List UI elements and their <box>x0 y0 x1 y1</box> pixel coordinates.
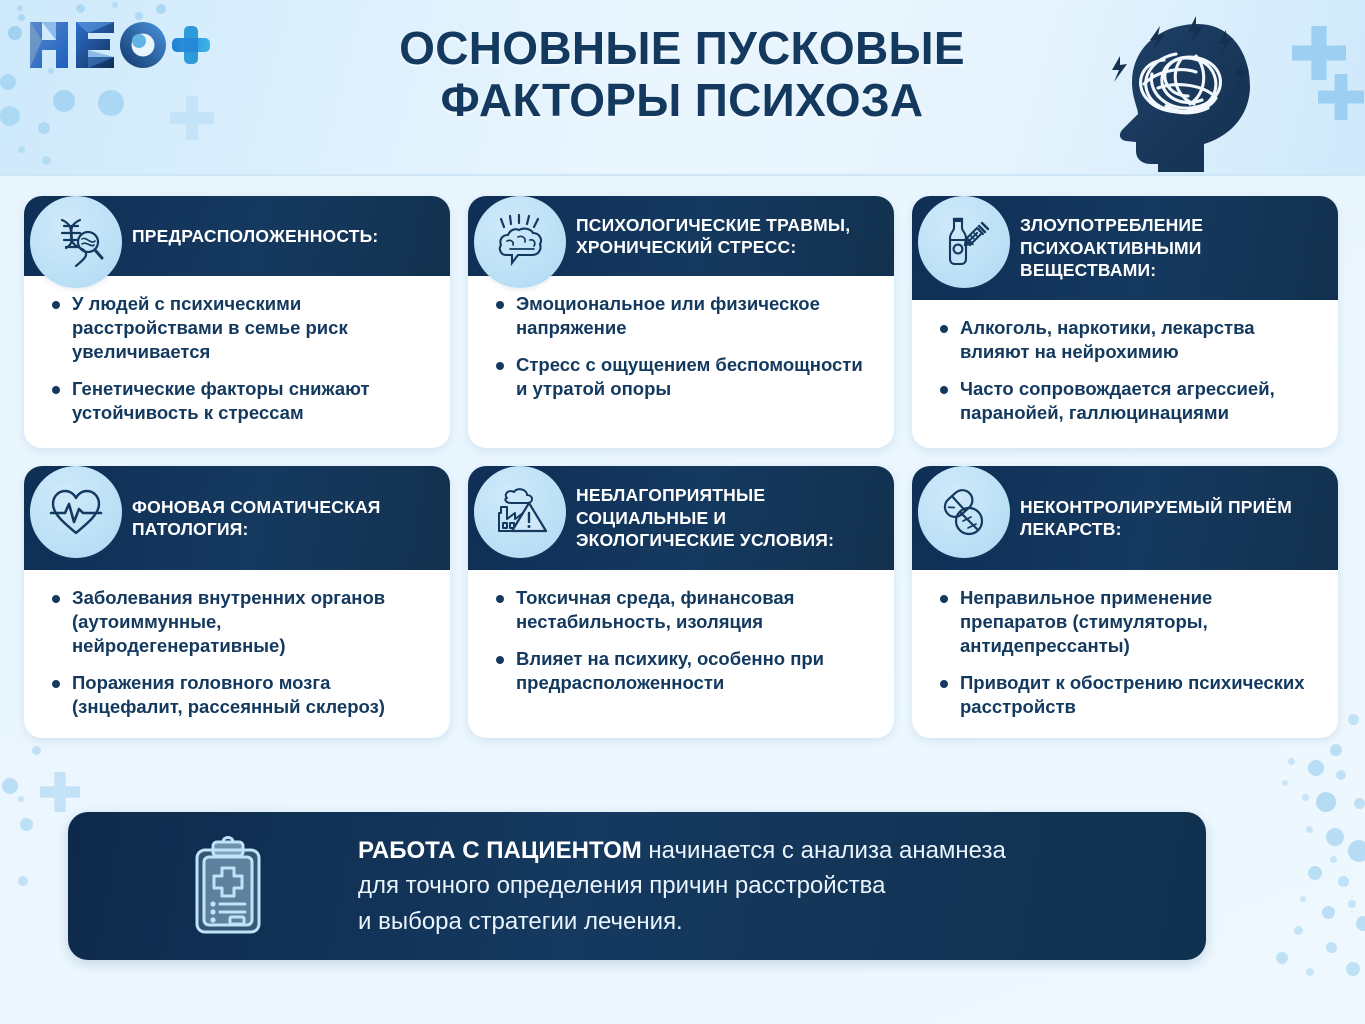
factor-card-predisposition: ПРЕДРАСПОЛОЖЕННОСТЬ: У людей с психическ… <box>24 196 450 448</box>
list-item: Приводит к обострению психических расстр… <box>934 671 1320 719</box>
card-body: Алкоголь, наркотики, лекарства влияют на… <box>912 300 1338 443</box>
card-header: ЗЛОУПОТРЕБЛЕНИЕ ПСИХОАКТИВНЫМИ ВЕЩЕСТВАМ… <box>912 196 1338 300</box>
deco-dot <box>8 26 22 40</box>
footer-banner-text: РАБОТА С ПАЦИЕНТОМ начинается с анализа … <box>358 833 1006 940</box>
deco-dot <box>98 90 124 116</box>
list-item: Токсичная среда, финансовая нестабильнос… <box>490 586 876 634</box>
deco-dot <box>112 2 118 8</box>
deco-dot <box>1326 942 1337 953</box>
factor-card-somatic-pathology: ФОНОВАЯ СОМАТИЧЕСКАЯ ПАТОЛОГИЯ: Заболева… <box>24 466 450 738</box>
factors-grid: ПРЕДРАСПОЛОЖЕННОСТЬ: У людей с психическ… <box>24 196 1342 738</box>
card-title: НЕБЛАГОПРИЯТНЫЕ СОЦИАЛЬНЫЕ И ЭКОЛОГИЧЕСК… <box>576 484 876 551</box>
bottle-syringe-icon <box>918 196 1010 288</box>
deco-dot <box>1288 758 1295 765</box>
deco-dot <box>1356 916 1365 931</box>
deco-dot <box>1346 962 1360 976</box>
deco-dot <box>42 156 51 165</box>
deco-dot <box>1308 760 1324 776</box>
card-title: ЗЛОУПОТРЕБЛЕНИЕ ПСИХОАКТИВНЫМИ ВЕЩЕСТВАМ… <box>1020 214 1320 281</box>
deco-dot <box>1338 876 1349 887</box>
stressed-brain-icon <box>474 196 566 288</box>
factor-card-trauma-stress: ПСИХОЛОГИЧЕСКИЕ ТРАВМЫ, ХРОНИЧЕСКИЙ СТРЕ… <box>468 196 894 448</box>
deco-dot <box>1330 856 1337 863</box>
deco-dot <box>18 14 25 21</box>
deco-plus <box>170 96 214 140</box>
deco-dot <box>1336 770 1346 780</box>
list-item: Генетические факторы снижают устойчивост… <box>46 377 432 425</box>
deco-dot <box>1354 798 1365 809</box>
deco-dot <box>1330 744 1342 756</box>
deco-dot <box>1348 840 1365 862</box>
deco-dot <box>1300 896 1306 902</box>
deco-plus <box>1292 26 1346 80</box>
deco-dot <box>53 90 75 112</box>
deco-dot <box>20 818 33 831</box>
card-header: ПРЕДРАСПОЛОЖЕННОСТЬ: <box>24 196 450 276</box>
deco-dot <box>1302 794 1309 801</box>
deco-dot <box>17 5 23 11</box>
factor-card-uncontrolled-medication: НЕКОНТРОЛИРУЕМЫЙ ПРИЁМ ЛЕКАРСТВ: Неправи… <box>912 466 1338 738</box>
bullet-list: Алкоголь, наркотики, лекарства влияют на… <box>934 316 1320 425</box>
bullet-list: Заболевания внутренних органов (аутоимму… <box>46 586 432 719</box>
list-item: Алкоголь, наркотики, лекарства влияют на… <box>934 316 1320 364</box>
card-title: ПРЕДРАСПОЛОЖЕННОСТЬ: <box>132 225 378 247</box>
card-body: Неправильное применение препаратов (стим… <box>912 570 1338 737</box>
deco-dot <box>1316 792 1336 812</box>
deco-dot <box>1282 780 1288 786</box>
header-band: ОСНОВНЫЕ ПУСКОВЫЕ ФАКТОРЫ ПСИХОЗА <box>0 0 1365 176</box>
deco-dot <box>38 122 50 134</box>
card-header: ФОНОВАЯ СОМАТИЧЕСКАЯ ПАТОЛОГИЯ: <box>24 466 450 570</box>
list-item: Часто сопровождается агрессией, паранойе… <box>934 377 1320 425</box>
card-title: ПСИХОЛОГИЧЕСКИЕ ТРАВМЫ, ХРОНИЧЕСКИЙ СТРЕ… <box>576 214 876 259</box>
card-body: У людей с психическими расстройствами в … <box>24 276 450 443</box>
factor-card-social-ecological: НЕБЛАГОПРИЯТНЫЕ СОЦИАЛЬНЫЕ И ЭКОЛОГИЧЕСК… <box>468 466 894 738</box>
list-item: Заболевания внутренних органов (аутоимму… <box>46 586 432 658</box>
page-title: ОСНОВНЫЕ ПУСКОВЫЕ ФАКТОРЫ ПСИХОЗА <box>332 22 1032 127</box>
card-title: НЕКОНТРОЛИРУЕМЫЙ ПРИЁМ ЛЕКАРСТВ: <box>1020 496 1320 541</box>
footer-line-3: и выбора стратегии лечения. <box>358 904 1006 940</box>
list-item: Влияет на психику, особенно при предрасп… <box>490 647 876 695</box>
deco-dot <box>1348 900 1356 908</box>
pills-icon <box>918 466 1010 558</box>
card-title: ФОНОВАЯ СОМАТИЧЕСКАЯ ПАТОЛОГИЯ: <box>132 496 432 541</box>
deco-dot <box>1322 906 1335 919</box>
footer-banner: РАБОТА С ПАЦИЕНТОМ начинается с анализа … <box>68 812 1206 960</box>
list-item: Эмоциональное или физическое напряжение <box>490 292 876 340</box>
deco-dot <box>1294 926 1303 935</box>
list-item: Поражения головного мозга (знцефалит, ра… <box>46 671 432 719</box>
deco-plus <box>1318 74 1364 120</box>
dna-magnifier-icon <box>30 196 122 288</box>
deco-dot <box>18 146 25 153</box>
infographic-page: ОСНОВНЫЕ ПУСКОВЫЕ ФАКТОРЫ ПСИХОЗА <box>0 0 1365 1024</box>
card-header: НЕБЛАГОПРИЯТНЫЕ СОЦИАЛЬНЫЕ И ЭКОЛОГИЧЕСК… <box>468 466 894 570</box>
card-header: НЕКОНТРОЛИРУЕМЫЙ ПРИЁМ ЛЕКАРСТВ: <box>912 466 1338 570</box>
bullet-list: Неправильное применение препаратов (стим… <box>934 586 1320 719</box>
bullet-list: Токсичная среда, финансовая нестабильнос… <box>490 586 876 695</box>
deco-dot <box>0 106 20 126</box>
list-item: У людей с психическими расстройствами в … <box>46 292 432 364</box>
deco-dot <box>0 74 16 90</box>
footer-rest-line1: начинается с анализа анамнеза <box>642 837 1006 864</box>
card-body: Токсичная среда, финансовая нестабильнос… <box>468 570 894 713</box>
deco-dot <box>1306 968 1314 976</box>
factor-card-substance-abuse: ЗЛОУПОТРЕБЛЕНИЕ ПСИХОАКТИВНЫМИ ВЕЩЕСТВАМ… <box>912 196 1338 448</box>
brand-logo <box>26 14 216 76</box>
deco-dot <box>76 4 85 13</box>
page-title-line2: ФАКТОРЫ ПСИХОЗА <box>332 74 1032 126</box>
deco-dot <box>18 876 28 886</box>
card-body: Эмоциональное или физическое напряжение … <box>468 276 894 419</box>
head-with-tangled-brain-icon <box>1078 4 1278 176</box>
deco-dot <box>1306 826 1313 833</box>
card-header: ПСИХОЛОГИЧЕСКИЕ ТРАВМЫ, ХРОНИЧЕСКИЙ СТРЕ… <box>468 196 894 276</box>
list-item: Стресс с ощущением беспомощности и утрат… <box>490 353 876 401</box>
clipboard-medical-icon <box>176 834 280 938</box>
footer-bold-lead: РАБОТА С ПАЦИЕНТОМ <box>358 837 642 864</box>
footer-line-1: РАБОТА С ПАЦИЕНТОМ начинается с анализа … <box>358 833 1006 869</box>
bullet-list: Эмоциональное или физическое напряжение … <box>490 292 876 401</box>
factory-warning-icon <box>474 466 566 558</box>
deco-dot <box>32 746 41 755</box>
card-body: Заболевания внутренних органов (аутоимму… <box>24 570 450 737</box>
deco-plus <box>40 772 80 812</box>
deco-dot <box>2 778 18 794</box>
footer-line-2: для точного определения причин расстройс… <box>358 868 1006 904</box>
list-item: Неправильное применение препаратов (стим… <box>934 586 1320 658</box>
deco-dot <box>156 4 166 14</box>
page-title-line1: ОСНОВНЫЕ ПУСКОВЫЕ <box>332 22 1032 74</box>
deco-dot <box>1308 866 1322 880</box>
heart-pulse-icon <box>30 466 122 558</box>
deco-dot <box>18 796 24 802</box>
deco-dot <box>1348 714 1359 725</box>
deco-dot <box>1276 952 1288 964</box>
deco-dot <box>1326 828 1344 846</box>
bullet-list: У людей с психическими расстройствами в … <box>46 292 432 425</box>
